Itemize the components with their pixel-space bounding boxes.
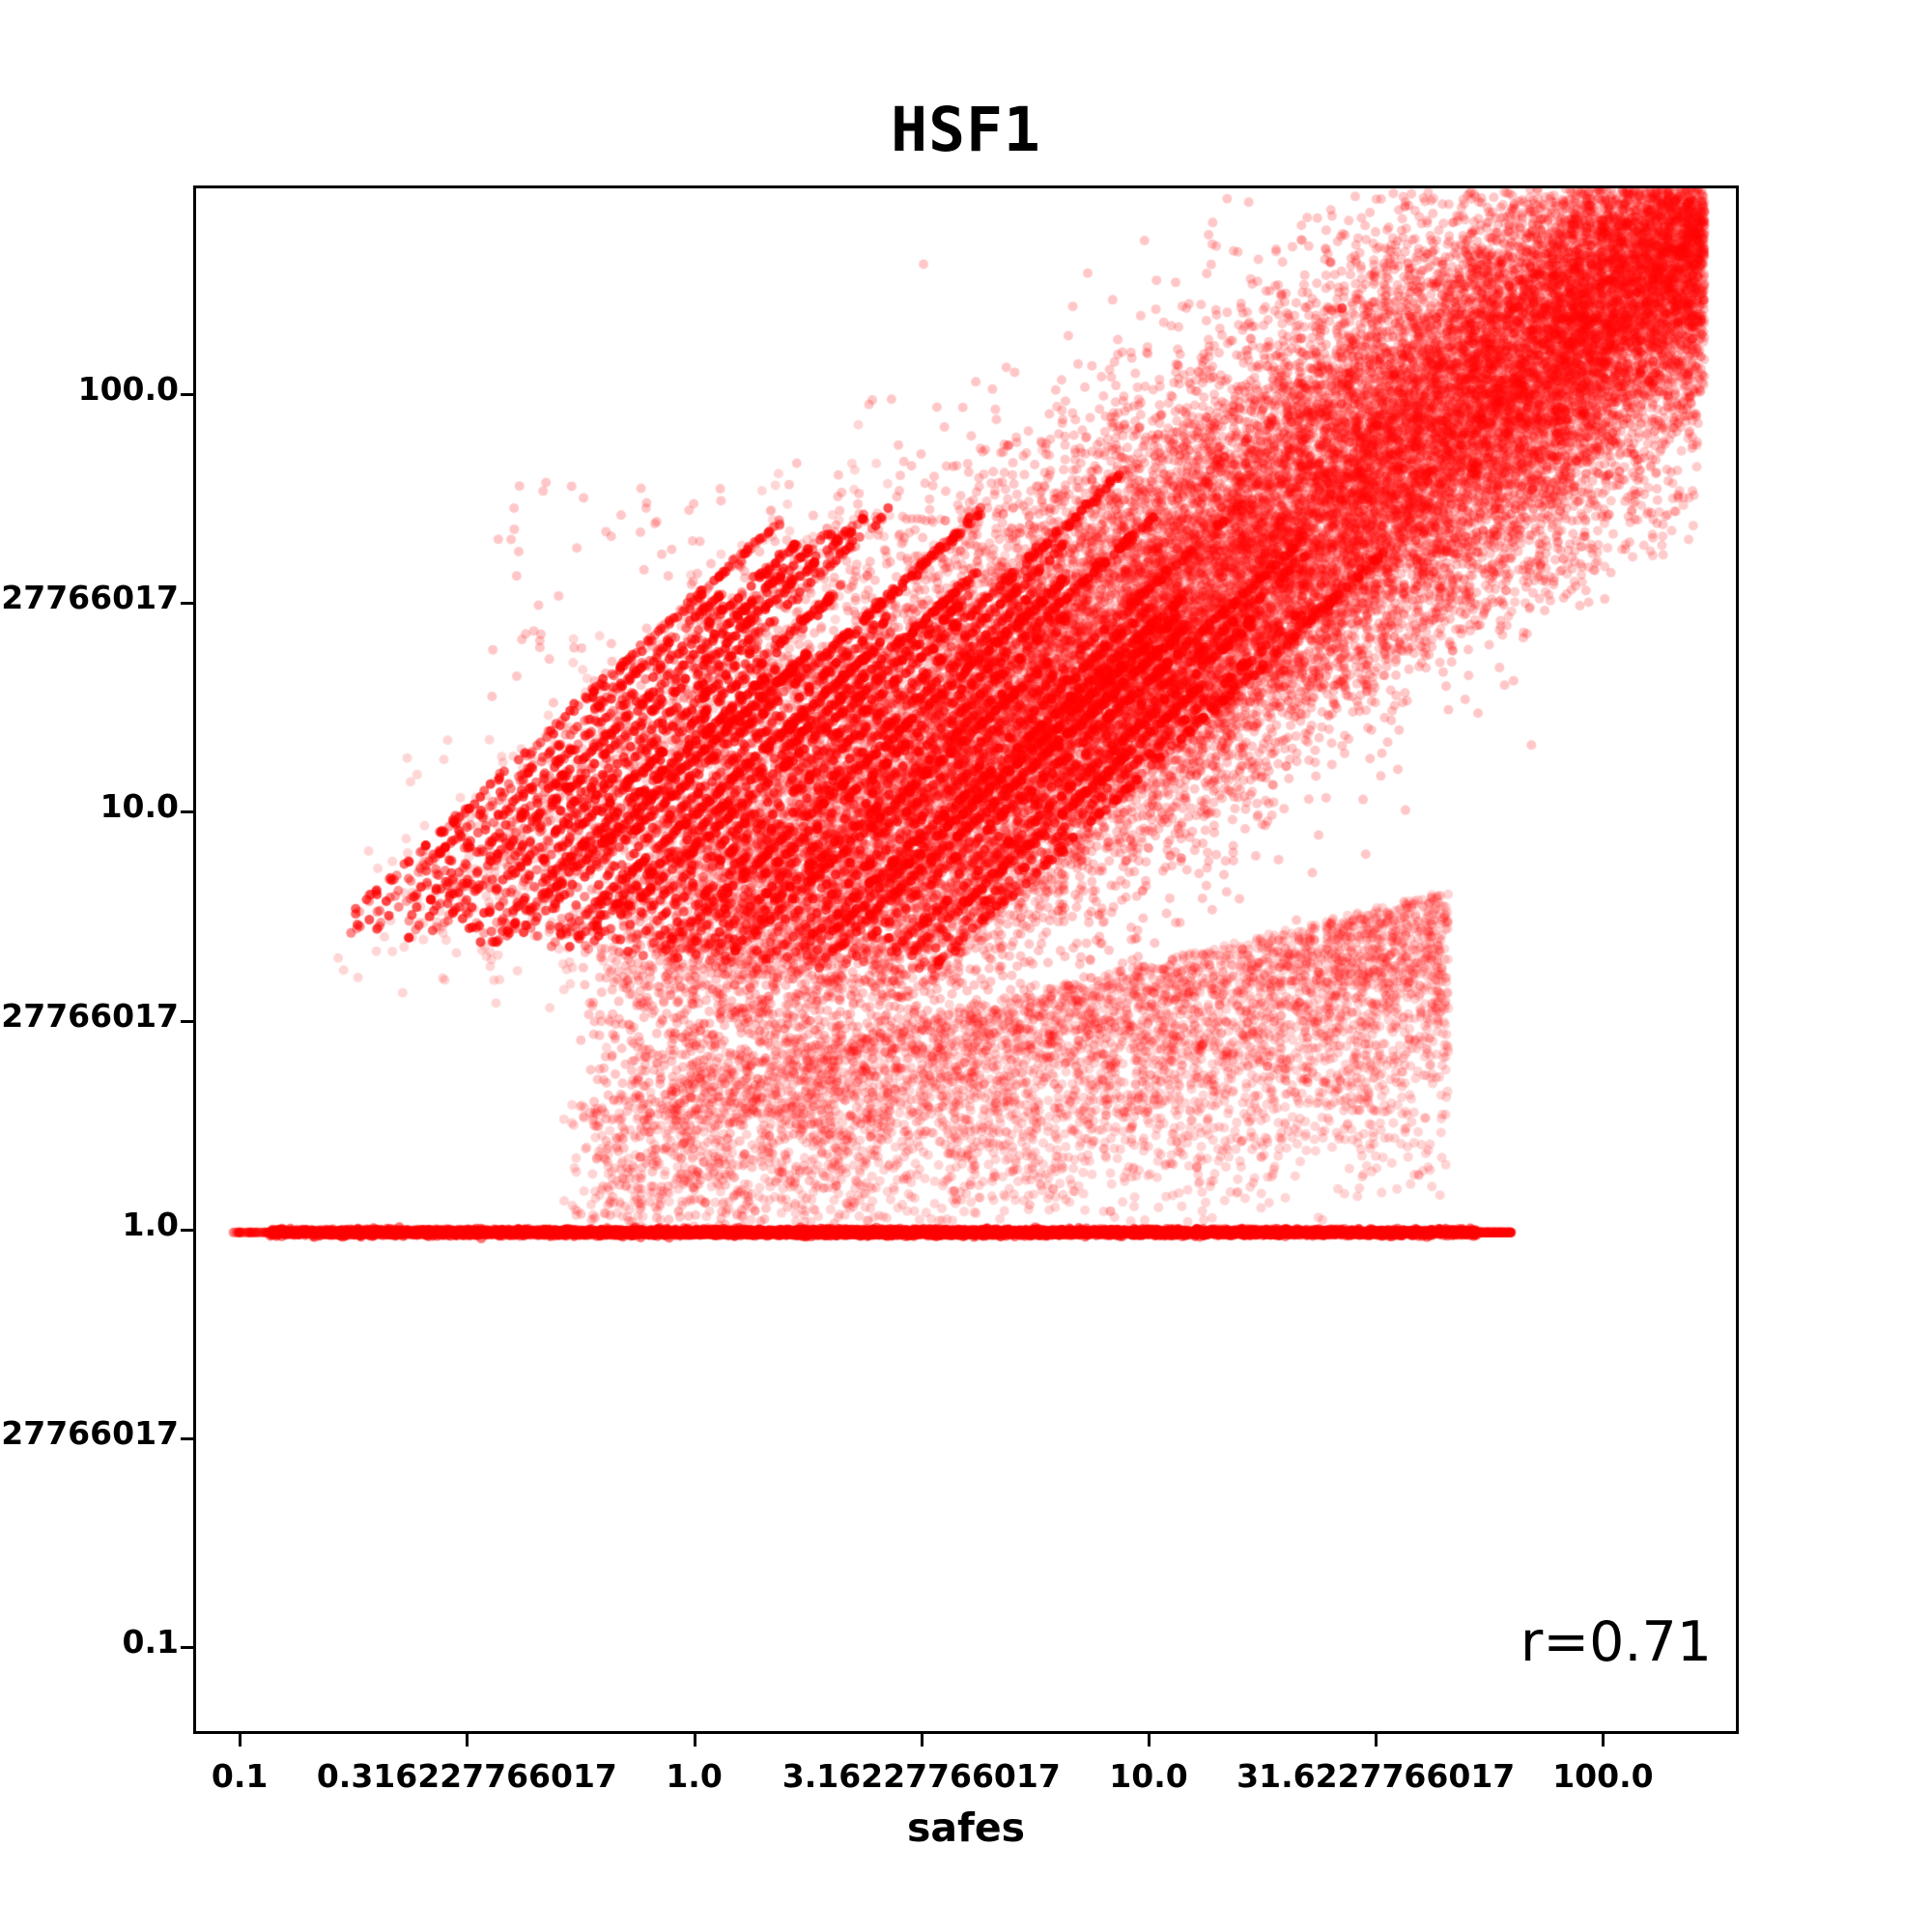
correlation-annotation: r=0.71 (1520, 1615, 1712, 1670)
y-tick-mark (181, 1646, 193, 1649)
x-tick-label: 0.1 (212, 1760, 268, 1792)
plot-area (193, 185, 1739, 1734)
y-tick-label: 1.0 (123, 1208, 179, 1240)
scatter-canvas (196, 188, 1736, 1731)
x-tick-mark (466, 1734, 469, 1747)
y-tick-label: 100.0 (78, 373, 179, 405)
chart-title: HSF1 (0, 99, 1932, 160)
x-tick-label: 1.0 (666, 1760, 722, 1792)
y-tick-label: 10.0 (100, 790, 179, 822)
y-tick-mark (181, 1229, 193, 1232)
x-tick-mark (1148, 1734, 1151, 1747)
y-tick-label: 6227766017 (0, 582, 179, 613)
y-tick-label: 6227766017 (0, 1417, 179, 1449)
x-tick-mark (239, 1734, 241, 1747)
x-tick-label: 0.316227766017 (317, 1760, 617, 1792)
figure-root: HSF1 100.0622776601710.062277660171.0622… (0, 0, 1932, 1932)
y-tick-mark (181, 602, 193, 605)
x-tick-label: 100.0 (1552, 1760, 1653, 1792)
x-tick-label: 31.6227766017 (1236, 1760, 1515, 1792)
y-tick-label: 6227766017 (0, 1000, 179, 1032)
y-tick-mark (181, 1020, 193, 1023)
x-tick-mark (1602, 1734, 1605, 1747)
y-tick-mark (181, 1437, 193, 1440)
x-tick-label: 10.0 (1109, 1760, 1187, 1792)
y-tick-label: 0.1 (123, 1626, 179, 1658)
x-axis-label: safes (0, 1808, 1932, 1848)
x-tick-label: 3.16227766017 (782, 1760, 1061, 1792)
x-tick-mark (1375, 1734, 1378, 1747)
x-tick-mark (694, 1734, 696, 1747)
y-tick-mark (181, 810, 193, 813)
x-tick-mark (921, 1734, 923, 1747)
y-tick-mark (181, 393, 193, 396)
